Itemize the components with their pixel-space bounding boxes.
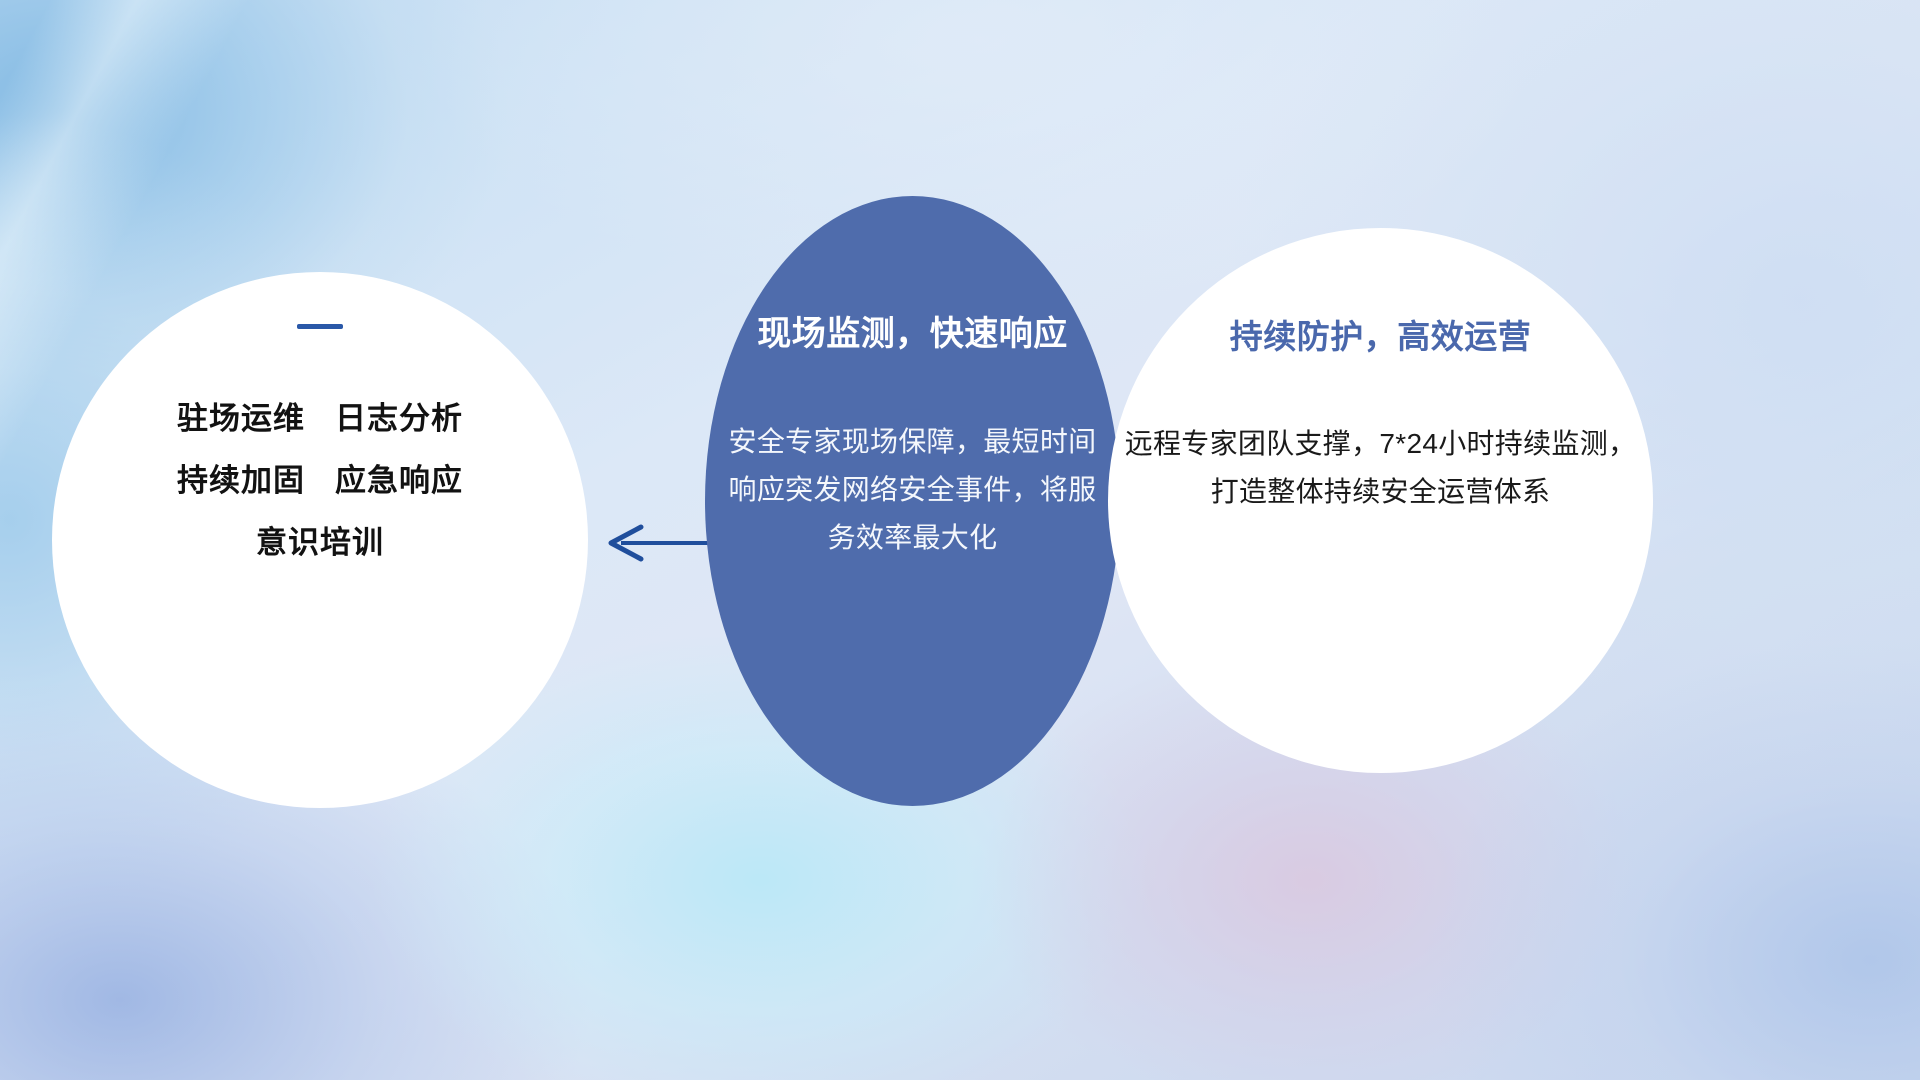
- keyword-item: 驻场运维: [177, 388, 305, 450]
- keyword-row: 驻场运维日志分析: [52, 388, 588, 450]
- keyword-item: 应急响应: [335, 450, 463, 512]
- service-circle-onsite-body: 安全专家现场保障，最短时间响应突发网络安全事件，将服务效率最大化: [723, 418, 1102, 562]
- capability-circle-left[interactable]: 驻场运维日志分析 持续加固应急响应 意识培训: [52, 272, 588, 808]
- keyword-row: 意识培训: [52, 512, 588, 574]
- slide-canvas: 驻场运维日志分析 持续加固应急响应 意识培训 现场监测，快速响应 安全专家现场保…: [0, 0, 1920, 1080]
- keyword-item: 日志分析: [335, 388, 463, 450]
- keyword-row: 持续加固应急响应: [52, 450, 588, 512]
- service-circle-remote[interactable]: 持续防护，高效运营 远程专家团队支撑，7*24小时持续监测，打造整体持续安全运营…: [1108, 228, 1653, 773]
- capability-keyword-list: 驻场运维日志分析 持续加固应急响应 意识培训: [52, 388, 588, 574]
- keyword-item: 持续加固: [177, 450, 305, 512]
- keyword-item: 意识培训: [256, 512, 384, 574]
- service-circle-onsite[interactable]: 现场监测，快速响应 安全专家现场保障，最短时间响应突发网络安全事件，将服务效率最…: [705, 196, 1120, 806]
- divider-rule-icon: [297, 324, 343, 329]
- service-circle-remote-body: 远程专家团队支撑，7*24小时持续监测，打造整体持续安全运营体系: [1120, 420, 1641, 516]
- service-circle-remote-title: 持续防护，高效运营: [1068, 310, 1693, 358]
